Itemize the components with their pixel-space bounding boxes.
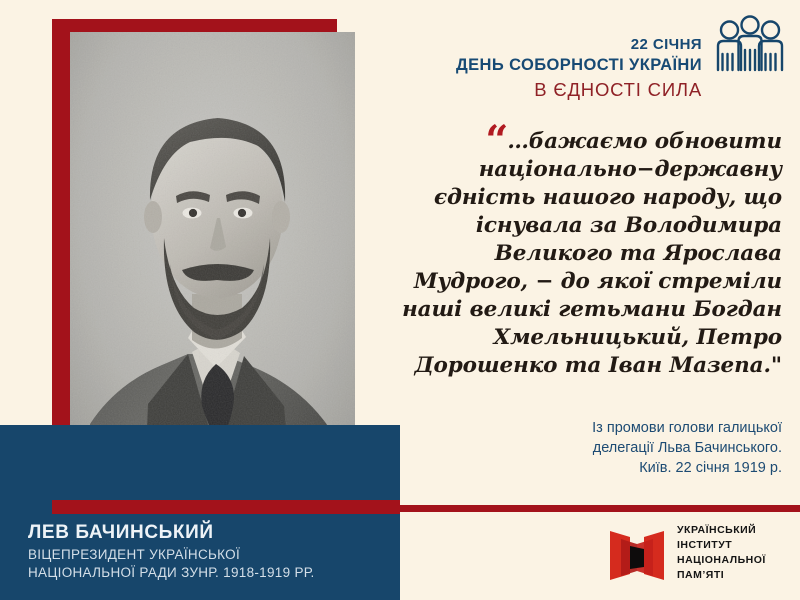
poster-canvas: ЛЕВ БАЧИНСЬКИЙ ВІЦЕПРЕЗИДЕНТ УКРАЇНСЬКОЇ… [0, 0, 800, 600]
quote-attribution: Із промови голови галицької делегації Ль… [430, 418, 782, 478]
quote-block: “…бажаємо обновити національно−державну … [400, 128, 782, 379]
attribution-line-2: делегації Льва Бачинського. [430, 438, 782, 458]
header-occasion: ДЕНЬ СОБОРНОСТІ УКРАЇНИ [456, 55, 702, 76]
photo-bottom-red-band [52, 500, 400, 514]
institute-name: УКРАЇНСЬКИЙ ІНСТИТУТ НАЦІОНАЛЬНОЇ ПАМ’ЯТ… [677, 523, 766, 583]
attribution-line-3: Київ. 22 січня 1919 р. [430, 458, 782, 478]
attribution-line-1: Із промови голови галицької [430, 418, 782, 438]
institute-logo: УКРАЇНСЬКИЙ ІНСТИТУТ НАЦІОНАЛЬНОЇ ПАМ’ЯТ… [608, 523, 766, 583]
person-name: ЛЕВ БАЧИНСЬКИЙ [28, 522, 394, 543]
header-date: 22 СІЧНЯ [456, 36, 702, 55]
institute-line-4: ПАМ’ЯТІ [677, 568, 766, 583]
institute-line-1: УКРАЇНСЬКИЙ [677, 523, 766, 538]
header-tagline: В ЄДНОСТІ СИЛА [456, 78, 702, 103]
person-role-line-1: ВІЦЕПРЕЗИДЕНТ УКРАЇНСЬКОЇ [28, 546, 394, 564]
person-name-block: ЛЕВ БАЧИНСЬКИЙ ВІЦЕПРЕЗИДЕНТ УКРАЇНСЬКОЇ… [28, 522, 394, 582]
quote-body: …бажаємо обновити національно−державну є… [402, 129, 782, 378]
header-block: 22 СІЧНЯ ДЕНЬ СОБОРНОСТІ УКРАЇНИ В ЄДНОС… [456, 14, 788, 103]
person-role-line-2: НАЦІОНАЛЬНОЇ РАДИ ЗУНР. 1918-1919 РР. [28, 564, 394, 582]
uinp-logo-mark [608, 524, 666, 582]
three-people-unity-icon [712, 14, 788, 90]
institute-line-2: ІНСТИТУТ [677, 538, 766, 553]
quote-text: “…бажаємо обновити національно−державну … [400, 128, 782, 379]
header-text-block: 22 СІЧНЯ ДЕНЬ СОБОРНОСТІ УКРАЇНИ В ЄДНОС… [456, 14, 702, 103]
red-divider-rule [400, 505, 800, 512]
institute-line-3: НАЦІОНАЛЬНОЇ [677, 553, 766, 568]
